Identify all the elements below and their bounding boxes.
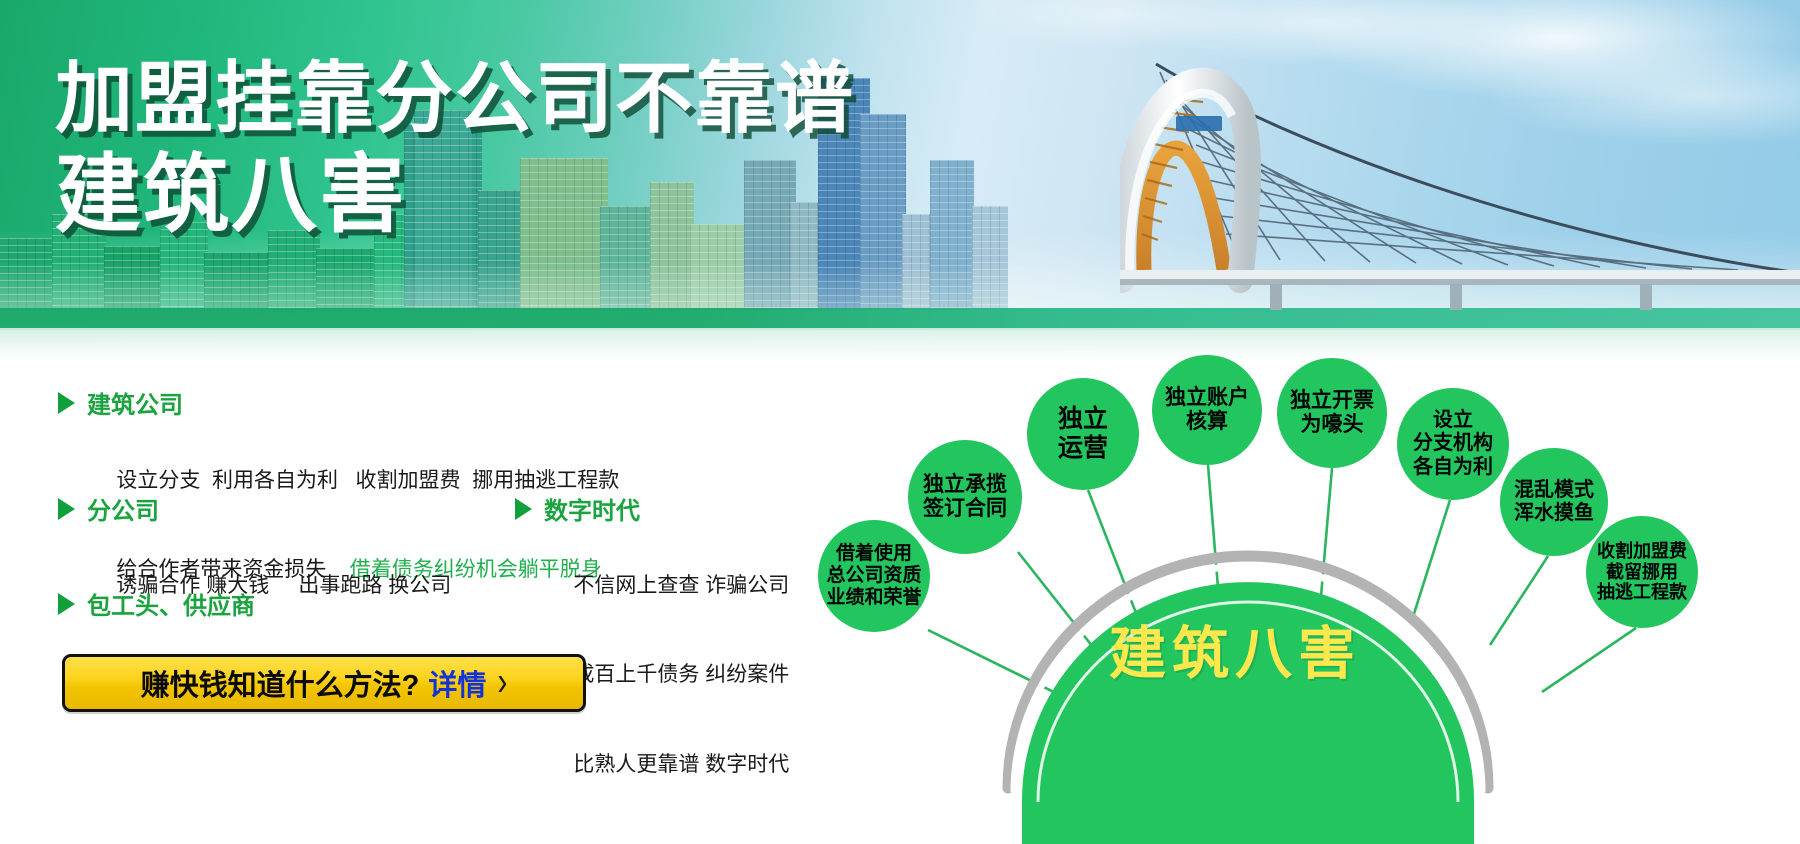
triangle-bullet-icon (515, 498, 532, 520)
hero-title-line1: 加盟挂靠分公司不靠谱 (55, 58, 855, 139)
section-digital-era: 数字时代 不信网上查查 诈骗公司 成百上千债务 纠纷案件 比熟人更靠谱 数字时代 (515, 491, 789, 809)
content-panel: 建筑公司 设立分支 利用各自为利 收割加盟费 挪用抽逃工程款 给合作者带来资金损… (0, 376, 820, 844)
cta-detail-link[interactable]: 详情 (428, 662, 486, 704)
poster-page: 加盟挂靠分公司不靠谱 建筑八害 建筑公司 设立分支 利用各自为利 收割加盟费 挪… (0, 0, 1800, 844)
triangle-bullet-icon (58, 593, 75, 615)
body-text: 设立分支 利用各自为利 收割加盟费 挪用抽逃工程款 (116, 469, 619, 492)
body-text: 不信网上查查 诈骗公司 (573, 574, 789, 597)
bubble-independent-operation[interactable]: 独立 运营 (1027, 378, 1139, 490)
bubble-harvest-franchise-fees[interactable]: 收割加盟费 截留挪用 抽逃工程款 (1586, 516, 1698, 628)
dome-label: 建筑八害 (975, 608, 1495, 690)
section-heading-construction: 建筑公司 (58, 385, 619, 420)
section-heading-label: 包工头、供应商 (87, 586, 255, 621)
section-heading-branch: 分公司 (58, 491, 451, 526)
bubble-chaotic-model[interactable]: 混乱模式 浑水摸鱼 (1500, 448, 1608, 556)
hero-banner: 加盟挂靠分公司不靠谱 建筑八害 (0, 0, 1800, 372)
liede-bridge-illustration (1120, 20, 1800, 310)
cta-question-label: 赚快钱知道什么方法? (141, 662, 420, 704)
cta-button[interactable]: 赚快钱知道什么方法? 详情 › (62, 654, 586, 712)
body-line: 比熟人更靠谱 数字时代 (515, 720, 789, 809)
bubble-independent-account[interactable]: 独立账户 核算 (1152, 355, 1262, 465)
body-line: 不信网上查查 诈骗公司 (515, 541, 789, 630)
bubble-independent-invoicing[interactable]: 独立开票 为嚎头 (1277, 358, 1387, 468)
section-heading-contractor: 包工头、供应商 (58, 586, 455, 621)
bubble-use-parent-qualification[interactable]: 借着使用 总公司资质 业绩和荣誉 (818, 520, 930, 632)
bubble-set-up-branches[interactable]: 设立 分支机构 各自为利 (1397, 388, 1509, 500)
section-heading-label: 分公司 (87, 491, 159, 526)
bubble-independent-contracting[interactable]: 独立承揽 签订合同 (908, 440, 1022, 554)
body-text: 比熟人更靠谱 数字时代 (573, 753, 789, 776)
foreground-green-strip (0, 308, 1800, 330)
triangle-bullet-icon (58, 392, 75, 414)
page-title: 加盟挂靠分公司不靠谱 建筑八害 (55, 58, 855, 241)
section-heading-digital: 数字时代 (515, 491, 789, 526)
body-text: 成百上千债务 纠纷案件 (573, 663, 789, 686)
eight-harms-diagram: 借着使用 总公司资质 业绩和荣誉 独立承揽 签订合同 独立 运营 独立账户 核算… (800, 340, 1800, 844)
chevron-right-icon: › (497, 660, 507, 706)
triangle-bullet-icon (58, 498, 75, 520)
hero-title-line2: 建筑八害 (55, 151, 855, 240)
section-heading-label: 建筑公司 (87, 385, 183, 420)
section-heading-label: 数字时代 (544, 491, 640, 526)
